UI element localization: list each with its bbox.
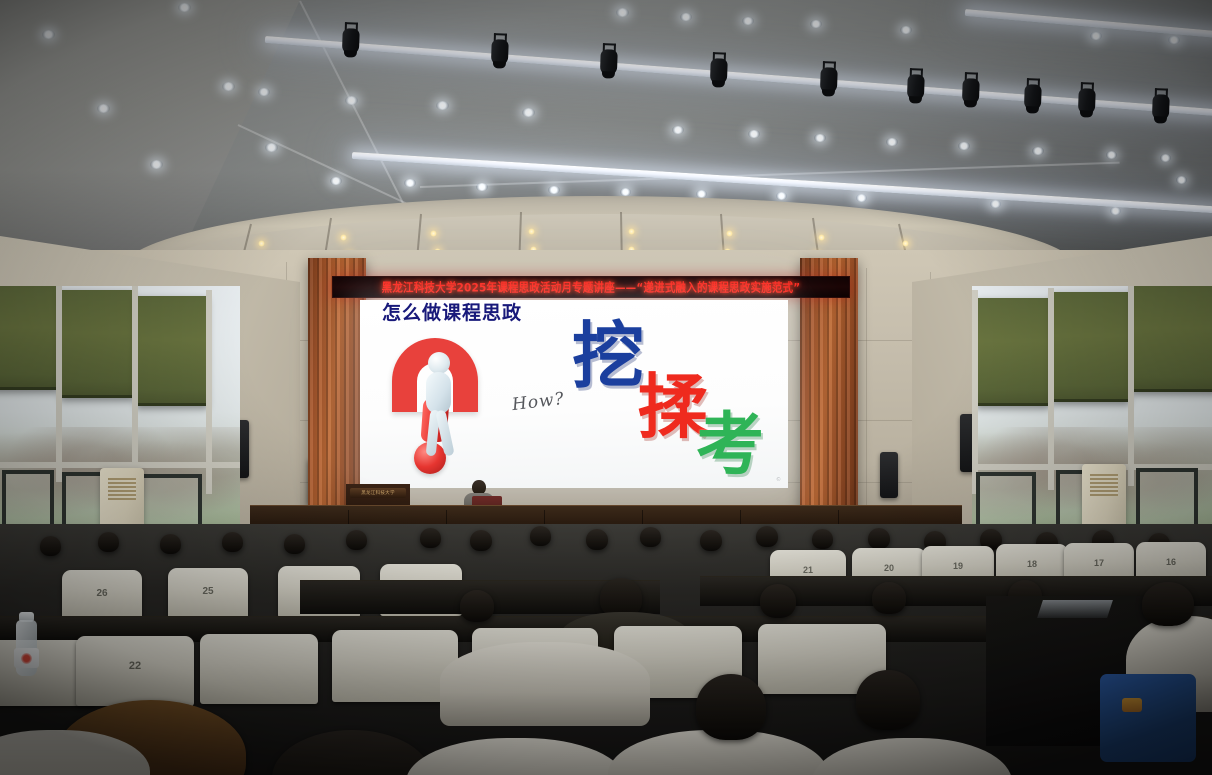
- slide-how-label: How?: [511, 389, 566, 415]
- downlight: [990, 200, 1001, 208]
- ac-grill: [108, 478, 136, 500]
- audience-chair: 26: [62, 570, 142, 622]
- slide-title: 怎么做课程思政: [382, 300, 522, 325]
- seat-number: 19: [922, 561, 994, 571]
- window-mullion: [132, 286, 138, 486]
- laptop-screen-glow: [1037, 600, 1113, 618]
- downlight: [222, 82, 235, 91]
- wall-speaker: [880, 452, 898, 498]
- downlight: [42, 30, 55, 39]
- soffit-accent-light: [726, 230, 733, 237]
- audience-head: [868, 528, 890, 549]
- downlight: [1168, 36, 1180, 44]
- downlight: [1032, 147, 1044, 155]
- wall-panel-line: [866, 268, 867, 518]
- audience-head: [470, 530, 492, 551]
- window-mullion: [1128, 286, 1134, 486]
- lower-window-pane: [2, 470, 54, 532]
- slide-keyword-kao: 考: [696, 412, 764, 480]
- downlight: [548, 186, 560, 194]
- blue-bag: [1100, 674, 1196, 762]
- audience-head: [40, 536, 61, 556]
- audience-head: [640, 527, 661, 547]
- audience-head: [160, 534, 181, 554]
- downlight: [814, 134, 826, 142]
- downlight: [345, 96, 358, 105]
- downlight: [404, 179, 416, 187]
- downlight: [476, 183, 488, 191]
- audience-head: [530, 526, 551, 546]
- ac-grill: [1090, 474, 1118, 496]
- downlight: [436, 101, 449, 110]
- projection-screen: 怎么做课程思政 How? 挖 揉 考 ©: [360, 300, 788, 488]
- audience-shoulders: [440, 642, 650, 726]
- seat-number: 18: [996, 559, 1068, 569]
- downlight: [522, 108, 535, 117]
- lectern-nameplate: 黑龙江科技大学: [350, 488, 406, 498]
- window-blind: [976, 298, 1050, 406]
- downlight: [900, 26, 912, 34]
- audience-head: [760, 584, 796, 618]
- window-wall-right: [972, 286, 1212, 548]
- downlight: [258, 88, 270, 96]
- audience-head: [586, 529, 608, 550]
- downlight: [97, 104, 110, 113]
- downlight: [742, 17, 754, 25]
- audience-head: [420, 528, 441, 548]
- soffit-accent-light: [430, 230, 437, 237]
- soffit-accent-light: [902, 240, 909, 247]
- audience-head: [98, 532, 119, 552]
- slide-corner-mark: ©: [776, 477, 781, 483]
- lecture-hall-photo: 黑龙江科技大学2025年课程思政活动月专题讲座——“递进式融入的课程思政实施范式…: [0, 0, 1212, 775]
- audience-head: [346, 530, 367, 550]
- downlight: [856, 194, 867, 202]
- audience-head: [856, 670, 920, 730]
- downlight: [1176, 176, 1187, 184]
- downlight: [958, 142, 970, 150]
- audience-shoulders: [406, 738, 626, 775]
- downlight: [150, 160, 163, 169]
- window-mullion: [56, 286, 62, 482]
- soffit-accent-light: [528, 228, 535, 235]
- window-blind: [1132, 286, 1212, 392]
- seat-number: 25: [168, 586, 248, 597]
- seat-number: 26: [62, 588, 142, 599]
- seat-number: 16: [1136, 557, 1206, 567]
- audience-head: [812, 529, 833, 549]
- downlight: [265, 143, 278, 152]
- audience-head: [460, 590, 494, 622]
- downlight: [1160, 154, 1171, 162]
- audience-area: 21 20 19 18 17 16 26 25 24 23: [0, 524, 1212, 775]
- slide-keyword-wa: 挖: [572, 320, 644, 392]
- soffit-accent-light: [258, 240, 265, 247]
- water-bottle-label: [14, 648, 39, 668]
- audience-head: [284, 534, 305, 554]
- downlight: [1090, 32, 1102, 40]
- led-banner-text: 黑龙江科技大学2025年课程思政活动月专题讲座——“递进式融入的课程思政实施范式…: [382, 279, 801, 296]
- window-blind: [1052, 292, 1130, 402]
- downlight: [330, 177, 342, 185]
- downlight: [810, 20, 822, 28]
- soffit-accent-light: [340, 234, 347, 241]
- downlight: [776, 192, 787, 200]
- audience-chair: [200, 634, 318, 704]
- lower-window-pane: [1136, 468, 1198, 528]
- window-blind: [0, 286, 58, 390]
- audience-head: [272, 730, 432, 775]
- audience-head: [696, 674, 766, 740]
- window-blind: [136, 296, 208, 406]
- lower-window-pane: [976, 472, 1036, 532]
- audience-chair: 25: [168, 568, 248, 620]
- audience-shoulders: [812, 738, 1012, 775]
- downlight: [1106, 151, 1117, 159]
- audience-head: [872, 582, 906, 614]
- downlight: [1110, 207, 1121, 215]
- audience-chair: 22: [76, 636, 194, 706]
- audience-head: [222, 532, 243, 552]
- downlight: [178, 3, 191, 12]
- soffit-accent-light: [628, 228, 635, 235]
- window-mullion: [1048, 288, 1054, 490]
- seat-number: 20: [852, 563, 926, 573]
- audience-head: [700, 530, 722, 551]
- downlight: [620, 188, 631, 196]
- seat-number: 17: [1064, 558, 1134, 568]
- downlight: [672, 126, 684, 134]
- downlight: [886, 138, 898, 146]
- seat-number: 22: [76, 660, 194, 672]
- downlight: [680, 13, 692, 21]
- seat-number: 21: [770, 565, 846, 575]
- soffit-accent-light: [818, 234, 825, 241]
- audience-head: [1142, 582, 1194, 626]
- audience-head: [756, 526, 778, 547]
- downlight: [748, 130, 760, 138]
- person-figurine-graphic: [416, 352, 460, 460]
- downlight: [616, 8, 629, 17]
- window-wall-left: [0, 286, 240, 548]
- lectern-nameplate-text: 黑龙江科技大学: [361, 490, 395, 496]
- window-blind: [60, 290, 134, 398]
- led-banner: 黑龙江科技大学2025年课程思政活动月专题讲座——“递进式融入的课程思政实施范式…: [332, 276, 850, 298]
